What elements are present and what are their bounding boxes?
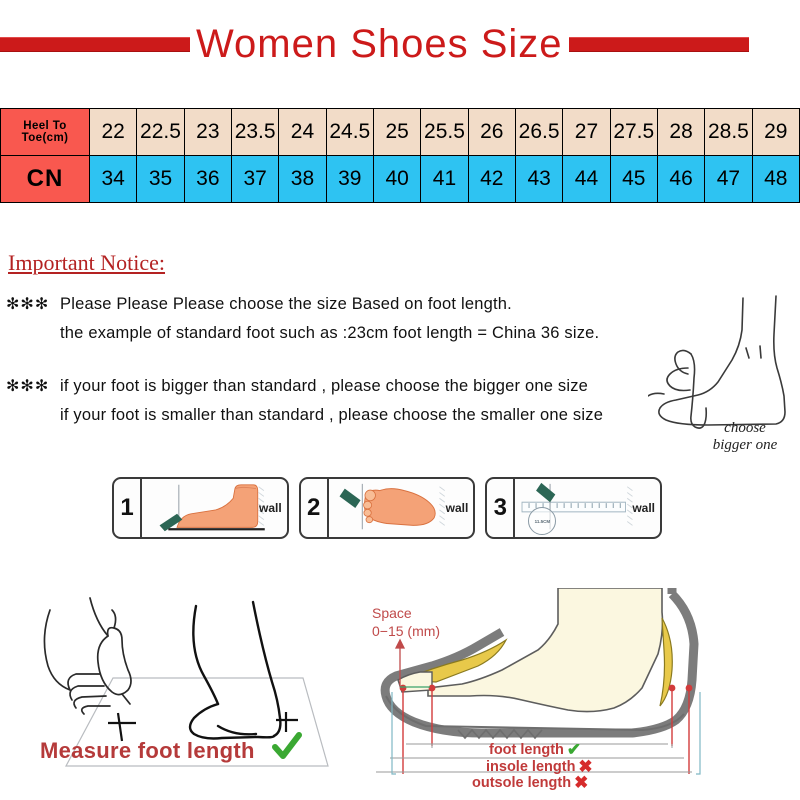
cell-cn-1: 35 bbox=[137, 156, 184, 203]
cell-cm-12: 28 bbox=[657, 109, 704, 156]
step-panel-2: 2 wall bbox=[299, 477, 476, 539]
cross-mark-icon-outsole: ✖ bbox=[574, 773, 588, 793]
notice-text-2b: if your foot is smaller than standard , … bbox=[60, 401, 603, 429]
step-panel-1: 1 wall bbox=[112, 477, 289, 539]
cell-cn-9: 43 bbox=[515, 156, 562, 203]
row-label-cn: CN bbox=[1, 156, 90, 203]
cell-cn-8: 42 bbox=[468, 156, 515, 203]
cell-cm-8: 26 bbox=[468, 109, 515, 156]
check-mark-icon bbox=[270, 730, 304, 764]
space-label-line2: 0−15 (mm) bbox=[372, 623, 440, 639]
row-label-heel-to-toe: Heel To Toe(cm) bbox=[1, 109, 90, 156]
step-panel-3: 3 bbox=[485, 477, 662, 539]
wall-label-3: wall bbox=[632, 501, 655, 515]
step-number-3: 3 bbox=[487, 479, 515, 537]
notice-line-1a: ✻✻✻ Please Please Please choose the size… bbox=[6, 290, 656, 319]
cell-cm-11: 27.5 bbox=[610, 109, 657, 156]
page-title-bar: Women Shoes Size bbox=[0, 18, 800, 70]
cell-cm-5: 24.5 bbox=[326, 109, 373, 156]
title-rule-right bbox=[569, 37, 749, 52]
cell-cn-11: 45 bbox=[610, 156, 657, 203]
notice-block-1: ✻✻✻ Please Please Please choose the size… bbox=[6, 290, 656, 348]
table-row-heel-to-toe: Heel To Toe(cm) 22 22.5 23 23.5 24 24.5 … bbox=[1, 109, 800, 156]
label-outsole-length-text: outsole length bbox=[472, 775, 571, 791]
cell-cm-14: 29 bbox=[752, 109, 799, 156]
asterisk-icon-2: ✻✻✻ bbox=[6, 373, 46, 401]
cell-cm-0: 22 bbox=[90, 109, 137, 156]
space-label-line1: Space bbox=[372, 605, 412, 621]
step-art-2: wall bbox=[329, 479, 474, 537]
cell-cm-9: 26.5 bbox=[515, 109, 562, 156]
cell-cm-7: 25.5 bbox=[421, 109, 468, 156]
page-title: Women Shoes Size bbox=[190, 22, 569, 67]
cell-cn-7: 41 bbox=[421, 156, 468, 203]
step-number-1: 1 bbox=[114, 479, 142, 537]
cell-cm-3: 23.5 bbox=[231, 109, 278, 156]
table-row-cn: CN 34 35 36 37 38 39 40 41 42 43 44 45 4… bbox=[1, 156, 800, 203]
cell-cn-13: 47 bbox=[705, 156, 752, 203]
wall-label-2: wall bbox=[446, 501, 469, 515]
cell-cm-2: 23 bbox=[184, 109, 231, 156]
notice-block-2: ✻✻✻ if your foot is bigger than standard… bbox=[6, 372, 666, 430]
cell-cm-13: 28.5 bbox=[705, 109, 752, 156]
notice-text-1a: Please Please Please choose the size Bas… bbox=[60, 290, 512, 318]
title-rule-left bbox=[0, 37, 190, 52]
label-outsole-length: outsole length ✖ bbox=[472, 773, 588, 793]
cell-cn-5: 39 bbox=[326, 156, 373, 203]
notice-text-2a: if your foot is bigger than standard , p… bbox=[60, 372, 588, 400]
space-callout-label: Space 0−15 (mm) bbox=[372, 604, 440, 640]
cell-cn-10: 44 bbox=[563, 156, 610, 203]
notice-line-1b: ✻✻✻ the example of standard foot such as… bbox=[6, 319, 656, 348]
measure-steps-row: 1 wall 2 bbox=[112, 477, 662, 539]
cell-cn-6: 40 bbox=[373, 156, 420, 203]
cell-cn-12: 46 bbox=[657, 156, 704, 203]
cell-cn-2: 36 bbox=[184, 156, 231, 203]
cell-cm-6: 25 bbox=[373, 109, 420, 156]
cell-cn-14: 48 bbox=[752, 156, 799, 203]
choose-bigger-line1: choose bbox=[724, 420, 766, 436]
notice-line-2a: ✻✻✻ if your foot is bigger than standard… bbox=[6, 372, 666, 401]
notice-text-1b: the example of standard foot such as :23… bbox=[60, 319, 599, 347]
choose-bigger-line2: bigger one bbox=[713, 437, 778, 453]
step-art-3: 11.5CM wall bbox=[515, 479, 660, 537]
asterisk-icon: ✻✻✻ bbox=[6, 291, 46, 319]
cell-cm-10: 27 bbox=[563, 109, 610, 156]
shoe-size-table: Heel To Toe(cm) 22 22.5 23 23.5 24 24.5 … bbox=[0, 108, 800, 203]
notice-line-2b: ✻✻✻ if your foot is smaller than standar… bbox=[6, 401, 666, 430]
wall-label-1: wall bbox=[259, 501, 282, 515]
label-foot-length-text: foot length bbox=[489, 742, 564, 758]
choose-bigger-caption: choose bigger one bbox=[690, 420, 800, 454]
cell-cm-1: 22.5 bbox=[137, 109, 184, 156]
step-number-2: 2 bbox=[301, 479, 329, 537]
cell-cn-4: 38 bbox=[279, 156, 326, 203]
measure-foot-caption: Measure foot length bbox=[40, 738, 255, 764]
cell-cn-0: 34 bbox=[90, 156, 137, 203]
step-art-1: wall bbox=[142, 479, 287, 537]
important-notice-heading: Important Notice: bbox=[8, 250, 165, 276]
cell-cn-3: 37 bbox=[231, 156, 278, 203]
cell-cm-4: 24 bbox=[279, 109, 326, 156]
